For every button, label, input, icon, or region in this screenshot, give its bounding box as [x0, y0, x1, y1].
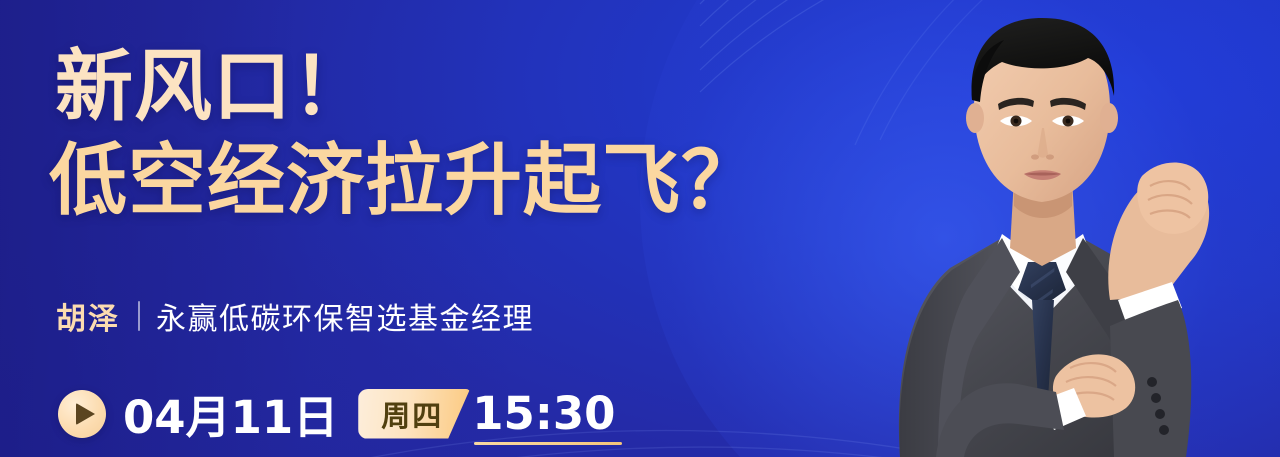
title-line-1: 新风口！: [55, 48, 760, 126]
speaker-subtitle: 胡泽 永赢低碳环保智选基金经理: [56, 294, 534, 338]
banner-copy: 新风口！ 低空经济拉升起飞？ 胡泽 永赢低碳环保智选基金经理 04月11日 周四…: [0, 0, 820, 457]
subtitle-divider: [138, 301, 140, 331]
webinar-banner: 新风口！ 低空经济拉升起飞？ 胡泽 永赢低碳环保智选基金经理 04月11日 周四…: [0, 0, 1280, 457]
broadcast-date: 04月11日: [123, 381, 338, 446]
page-title: 新风口！ 低空经济拉升起飞？: [55, 48, 760, 220]
speaker-name: 胡泽: [56, 294, 120, 338]
title-line-2: 低空经济拉升起飞？: [49, 142, 760, 220]
speaker-role: 永赢低碳环保智选基金经理: [156, 294, 534, 338]
time-underline: [474, 442, 621, 445]
schedule-row: 04月11日 周四 15:30: [58, 381, 616, 446]
broadcast-time-wrap: 15:30: [472, 387, 615, 440]
play-triangle-icon: [76, 403, 95, 425]
portrait-photo: [842, 0, 1234, 457]
play-icon[interactable]: [58, 390, 106, 438]
broadcast-time: 15:30: [472, 387, 615, 440]
status-badge: 周四: [358, 389, 470, 439]
weekday-badge-wrap: 周四: [358, 389, 470, 439]
